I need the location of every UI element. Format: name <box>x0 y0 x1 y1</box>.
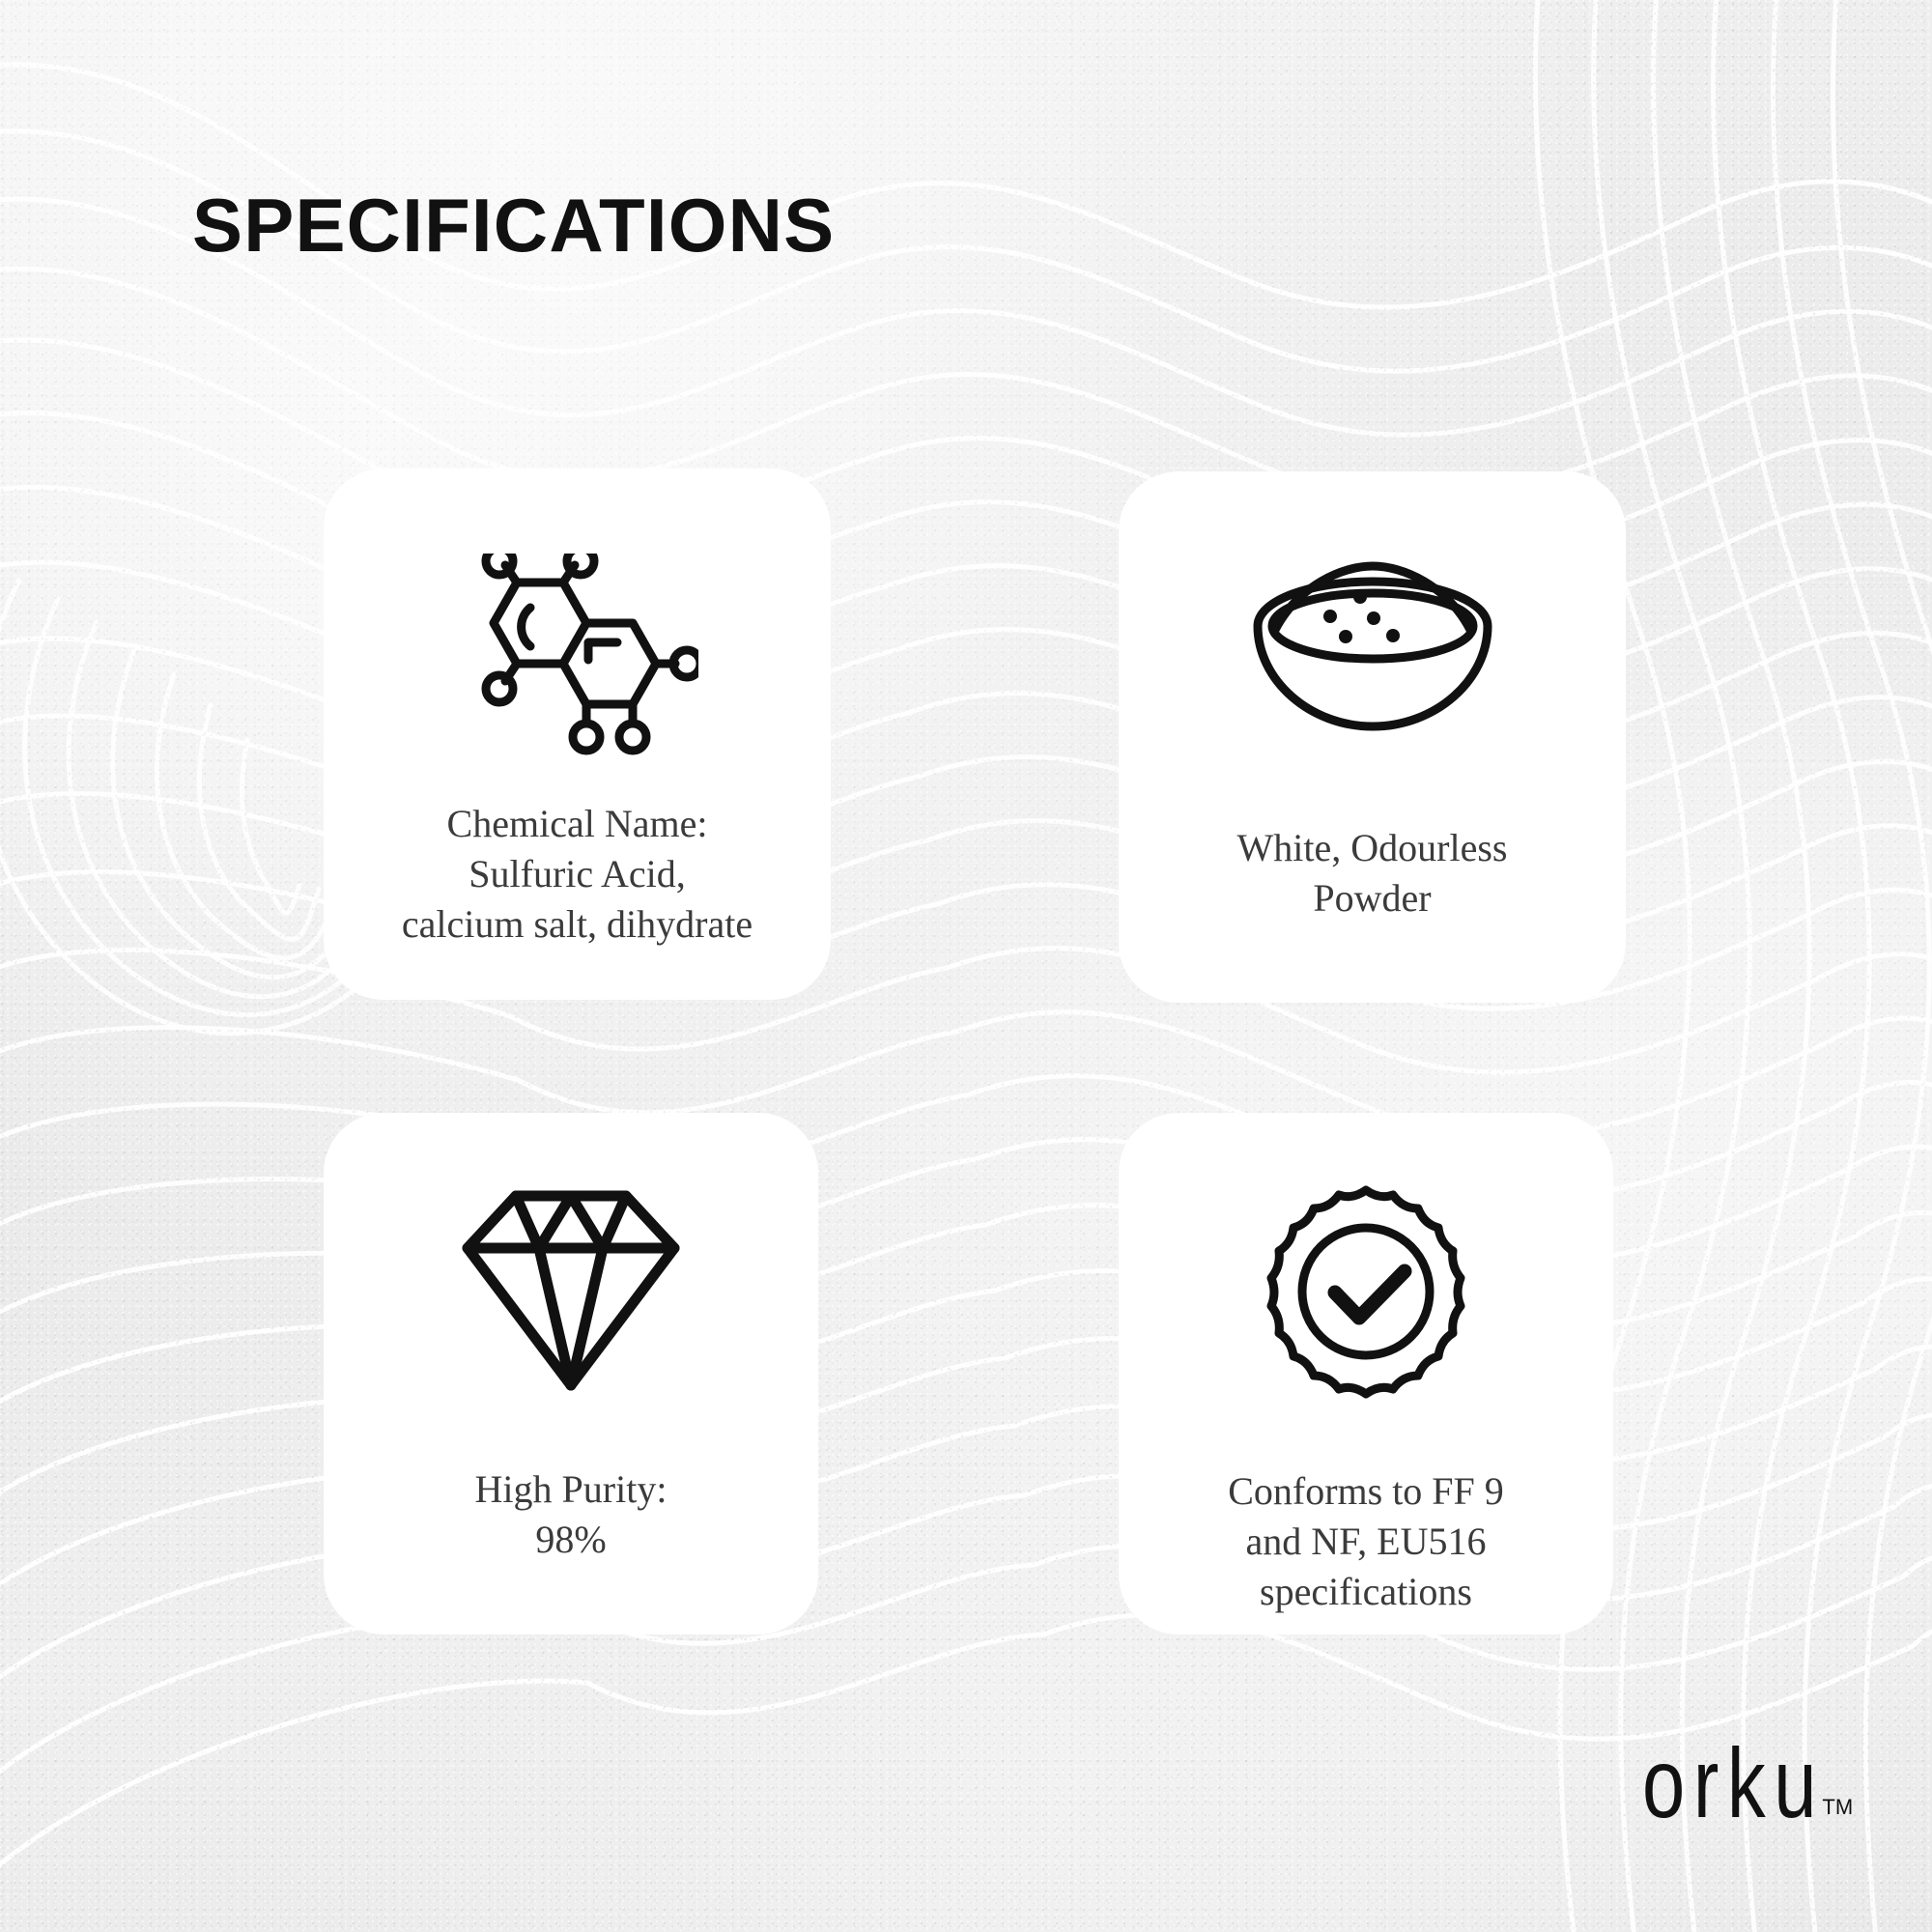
diamond-icon <box>460 1188 682 1393</box>
spec-card-chemical-name-text: Chemical Name: Sulfuric Acid, calcium sa… <box>392 799 762 950</box>
spec-card-purity-text: High Purity: 98% <box>466 1464 677 1565</box>
certified-badge-icon <box>1250 1182 1482 1414</box>
background-grain-texture-coarse <box>0 0 1932 1932</box>
spec-card-conformance: Conforms to FF 9 and NF, EU516 specifica… <box>1119 1113 1613 1634</box>
brand-logo: orku TM <box>1642 1739 1853 1830</box>
specifications-poster: SPECIFICATIONS <box>0 0 1932 1932</box>
powder-bowl-icon <box>1246 556 1499 740</box>
brand-name: orku <box>1642 1739 1825 1830</box>
molecule-icon <box>457 554 698 756</box>
trademark-symbol: TM <box>1822 1795 1853 1820</box>
spec-card-chemical-name: Chemical Name: Sulfuric Acid, calcium sa… <box>324 469 831 1000</box>
spec-card-appearance-text: White, Odourless Powder <box>1228 823 1518 923</box>
spec-card-purity: High Purity: 98% <box>324 1113 818 1634</box>
page-title: SPECIFICATIONS <box>192 187 835 263</box>
spec-card-appearance: White, Odourless Powder <box>1119 471 1626 1003</box>
spec-card-conformance-text: Conforms to FF 9 and NF, EU516 specifica… <box>1218 1466 1514 1617</box>
